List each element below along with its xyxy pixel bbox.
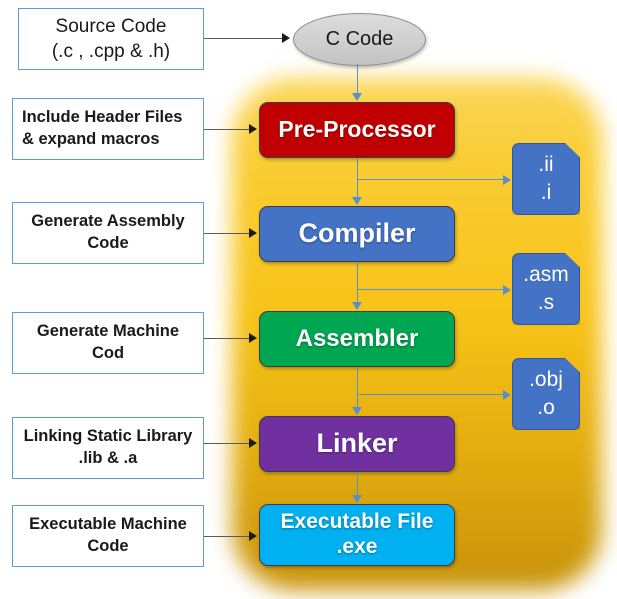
arrowhead-assembler-to-linker (352, 407, 362, 415)
arrowhead-source-to-ccode (282, 33, 290, 43)
output-file-object: .obj .o (512, 358, 580, 430)
description-box-include-headers: Include Header Files & expand macros (12, 98, 204, 160)
connector-desc-to-linker (204, 443, 249, 444)
arrowhead-desc-to-assembler (249, 333, 257, 343)
description-text: Generate Assembly Code (25, 211, 190, 255)
connector-preprocessor-to-file (357, 179, 503, 180)
arrowhead-desc-to-linker (249, 438, 257, 448)
arrowhead-compiler-to-assembler (352, 302, 362, 310)
arrowhead-preprocessor-to-compiler (352, 197, 362, 205)
description-text: Linking Static Library .lib & .a (18, 426, 199, 470)
stage-label: Linker (316, 428, 397, 460)
arrowhead-assembler-to-file (503, 390, 511, 400)
connector-desc-to-preprocessor (204, 129, 249, 130)
stage-linker[interactable]: Linker (259, 416, 455, 472)
connector-desc-to-compiler (204, 233, 249, 234)
description-text: Source Code (.c , .cpp & .h) (46, 14, 176, 64)
description-text: Executable Machine Code (23, 514, 193, 558)
arrowhead-desc-to-preprocessor (249, 124, 257, 134)
stage-label: Compiler (298, 218, 415, 250)
description-text: Include Header Files & expand macros (13, 107, 203, 151)
c-code-label: C Code (326, 28, 394, 51)
output-file-assembly: .asm .s (512, 253, 580, 325)
arrowhead-desc-to-compiler (249, 228, 257, 238)
c-code-ellipse: C Code (293, 13, 426, 66)
connector-desc-to-executable (204, 536, 249, 537)
arrowhead-ccode-to-preprocessor (352, 93, 362, 101)
connector-compiler-to-assembler (357, 262, 358, 303)
description-box-executable-machine-code: Executable Machine Code (12, 505, 204, 567)
stage-label: Executable File .exe (281, 510, 434, 560)
connector-compiler-to-file (357, 289, 503, 290)
output-file-label: .asm .s (523, 261, 569, 318)
output-file-preprocessed: .ii .i (512, 143, 580, 215)
arrowhead-desc-to-executable (249, 531, 257, 541)
description-box-source-code: Source Code (.c , .cpp & .h) (18, 8, 204, 70)
connector-assembler-to-linker (357, 367, 358, 408)
arrowhead-preprocessor-to-file (503, 175, 511, 185)
description-text: Generate Machine Cod (31, 321, 185, 365)
description-box-generate-assembly: Generate Assembly Code (12, 202, 204, 264)
connector-preprocessor-to-compiler (357, 158, 358, 198)
description-box-generate-machine-code: Generate Machine Cod (12, 312, 204, 374)
arrowhead-linker-to-executable (352, 495, 362, 503)
description-box-linking-static-library: Linking Static Library .lib & .a (12, 417, 204, 479)
connector-source-to-ccode (204, 38, 282, 39)
stage-assembler[interactable]: Assembler (259, 311, 455, 367)
connector-linker-to-executable (357, 472, 358, 497)
connector-desc-to-assembler (204, 338, 249, 339)
connector-ccode-to-preprocessor (357, 64, 358, 94)
compilation-process-diagram: Source Code (.c , .cpp & .h) Include Hea… (0, 0, 617, 599)
stage-compiler[interactable]: Compiler (259, 206, 455, 262)
stage-label: Assembler (296, 325, 419, 353)
output-file-label: .obj .o (529, 366, 563, 423)
output-file-label: .ii .i (538, 151, 553, 208)
stage-executable-file[interactable]: Executable File .exe (259, 504, 455, 566)
stage-label: Pre-Processor (278, 116, 435, 143)
connector-assembler-to-file (357, 394, 503, 395)
arrowhead-compiler-to-file (503, 285, 511, 295)
stage-pre-processor[interactable]: Pre-Processor (259, 102, 455, 158)
